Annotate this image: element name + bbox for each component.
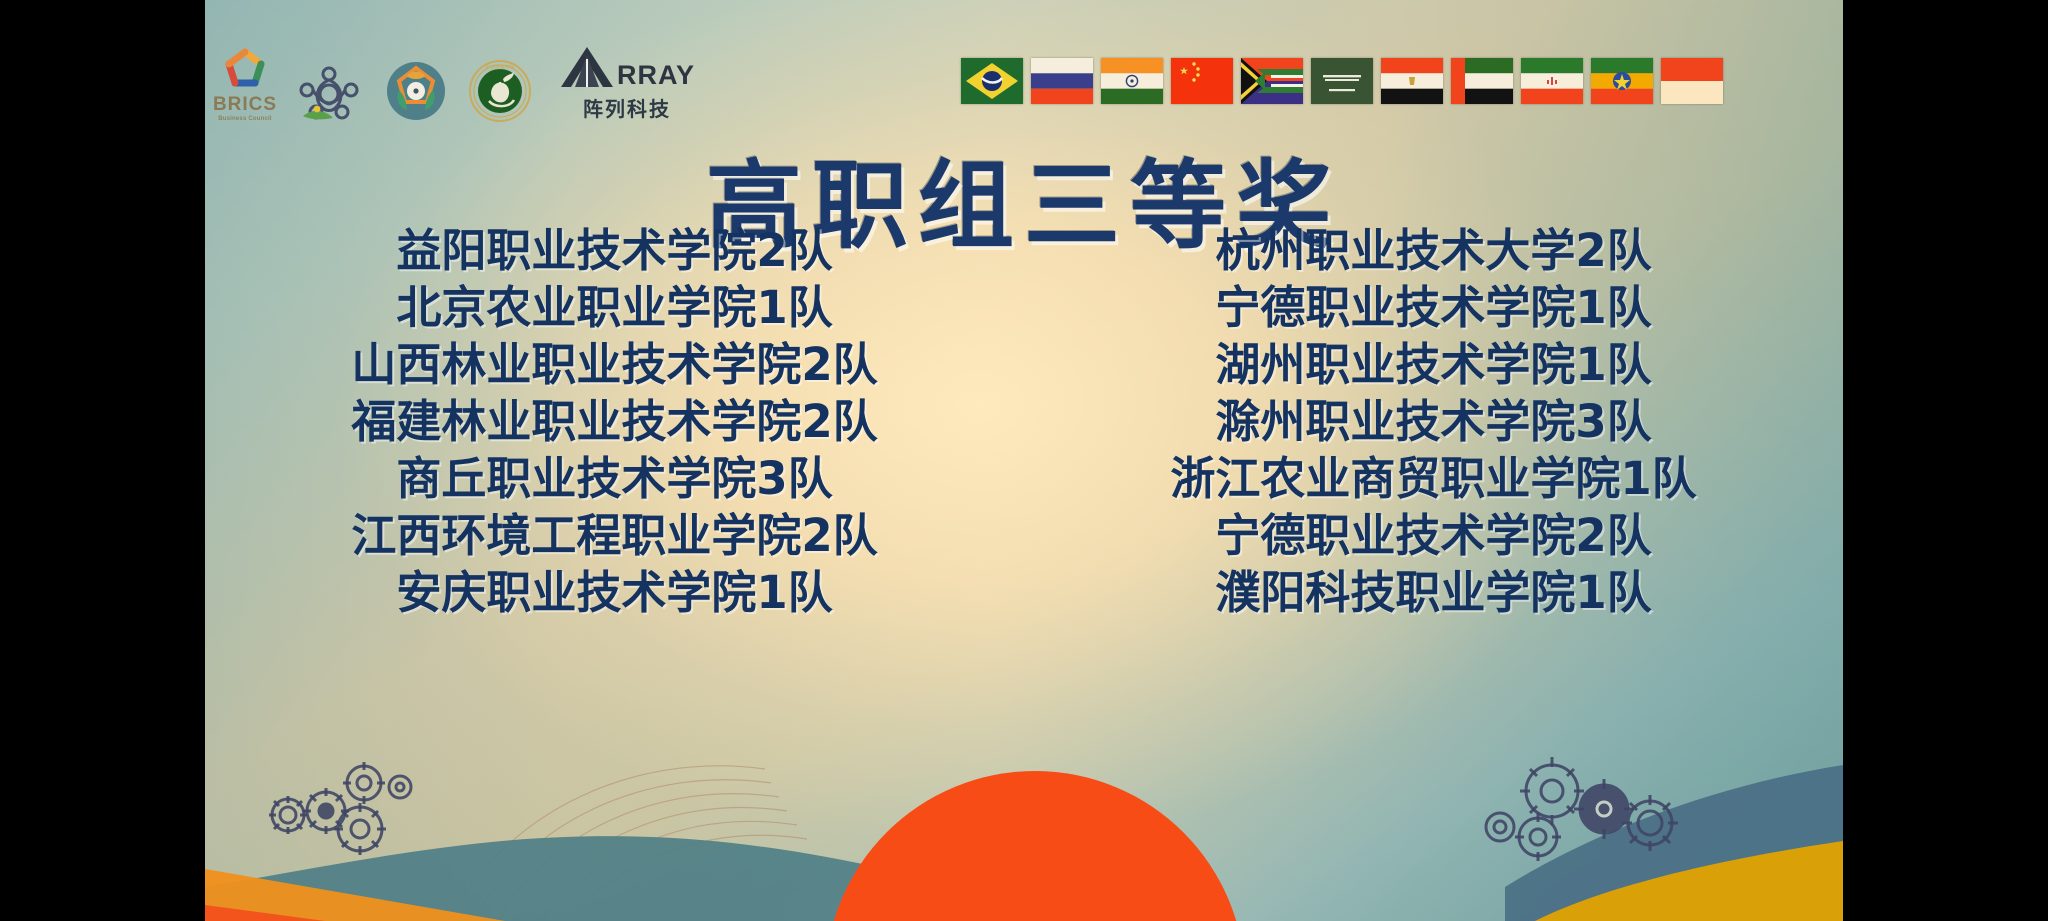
apple-leaf-icon: 农业技术学院 (469, 60, 531, 122)
member-country-flags (961, 58, 1723, 104)
letterbox-left (0, 0, 205, 921)
brics-business-council-logo: BRICS Business Council (217, 47, 273, 122)
list-item: 濮阳科技职业学院1队 (1024, 570, 1843, 627)
flag-india (1101, 58, 1163, 104)
array-wordmark: RRAY (617, 63, 695, 89)
list-item: 杭州职业技术大学2队 (1024, 228, 1843, 285)
award-slide: BRICS Business Council (205, 0, 1843, 921)
flag-brazil (961, 58, 1023, 104)
flag-saudi-arabia (1311, 58, 1373, 104)
brics-skills-emblem (295, 60, 363, 122)
list-item: 商丘职业技术学院3队 (205, 456, 1024, 513)
flag-russia (1031, 58, 1093, 104)
list-item: 江西环境工程职业学院2队 (205, 513, 1024, 570)
presentation-stage: BRICS Business Council (0, 0, 2048, 921)
array-chinese-name: 阵列科技 (583, 93, 671, 122)
list-item: 湖州职业技术学院1队 (1024, 342, 1843, 399)
skills-knot-icon (295, 60, 363, 122)
award-list: 益阳职业技术学院2队 北京农业职业学院1队 山西林业职业技术学院2队 福建林业职… (205, 228, 1843, 627)
letterbox-right (1843, 0, 2048, 921)
list-item: 北京农业职业学院1队 (205, 285, 1024, 342)
list-item: 滁州职业技术学院3队 (1024, 399, 1843, 456)
list-item: 山西林业职业技术学院2队 (205, 342, 1024, 399)
brics-logo-title: BRICS (213, 95, 277, 114)
award-column-left: 益阳职业技术学院2队 北京农业职业学院1队 山西林业职业技术学院2队 福建林业职… (205, 228, 1024, 627)
gear-cluster-right (1478, 749, 1678, 869)
flag-china (1171, 58, 1233, 104)
list-item: 宁德职业技术学院2队 (1024, 513, 1843, 570)
flag-south-africa (1241, 58, 1303, 104)
gear-cluster-left (260, 753, 440, 863)
svg-text:农业技术学院: 农业技术学院 (485, 64, 515, 71)
list-item: 福建林业职业技术学院2队 (205, 399, 1024, 456)
flag-uae (1451, 58, 1513, 104)
competition-star-icon (385, 60, 447, 122)
flag-ethiopia (1591, 58, 1653, 104)
brics-ring-icon (219, 47, 271, 93)
flag-egypt (1381, 58, 1443, 104)
array-technology-logo: RRAY 阵列科技 (559, 45, 695, 122)
list-item: 浙江农业商贸职业学院1队 (1024, 456, 1843, 513)
list-item: 益阳职业技术学院2队 (205, 228, 1024, 285)
flag-indonesia (1661, 58, 1723, 104)
list-item: 宁德职业技术学院1队 (1024, 285, 1843, 342)
array-triangle-icon (559, 45, 615, 89)
competition-emblem (385, 60, 447, 122)
agriculture-academy-emblem: 农业技术学院 (469, 60, 531, 122)
array-mark: RRAY (559, 45, 695, 89)
award-column-right: 杭州职业技术大学2队 宁德职业技术学院1队 湖州职业技术学院1队 滁州职业技术学… (1024, 228, 1843, 627)
flag-iran (1521, 58, 1583, 104)
sponsor-logo-row: BRICS Business Council (205, 45, 695, 122)
list-item: 安庆职业技术学院1队 (205, 570, 1024, 627)
brics-logo-subtitle: Business Council (218, 116, 272, 122)
